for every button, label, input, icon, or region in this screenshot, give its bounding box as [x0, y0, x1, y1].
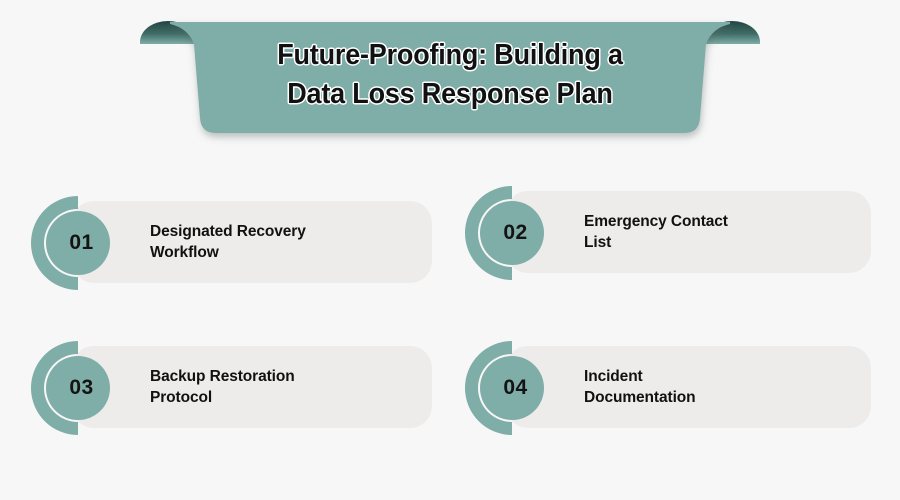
card-item-03[interactable]: 03 Backup Restoration Protocol — [30, 340, 432, 434]
card-title: Emergency Contact List — [584, 211, 834, 253]
cards-grid: 01 Designated Recovery Workflow 02 Emerg… — [0, 0, 900, 500]
card-number: 02 — [464, 185, 560, 281]
card-number: 04 — [464, 340, 560, 436]
card-title: Incident Documentation — [584, 366, 834, 408]
card-title: Designated Recovery Workflow — [150, 221, 400, 263]
card-title-line-2: Protocol — [150, 387, 400, 408]
card-item-04[interactable]: 04 Incident Documentation — [464, 340, 871, 434]
card-title-line-2: Workflow — [150, 242, 400, 263]
card-number: 01 — [30, 195, 126, 291]
card-title-line-1: Emergency Contact — [584, 211, 834, 232]
card-title-line-2: Documentation — [584, 387, 834, 408]
card-title-line-2: List — [584, 232, 834, 253]
card-item-02[interactable]: 02 Emergency Contact List — [464, 185, 871, 279]
card-title-line-1: Designated Recovery — [150, 221, 400, 242]
card-item-01[interactable]: 01 Designated Recovery Workflow — [30, 195, 432, 289]
card-title: Backup Restoration Protocol — [150, 366, 400, 408]
card-number: 03 — [30, 340, 126, 436]
card-title-line-1: Incident — [584, 366, 834, 387]
card-title-line-1: Backup Restoration — [150, 366, 400, 387]
